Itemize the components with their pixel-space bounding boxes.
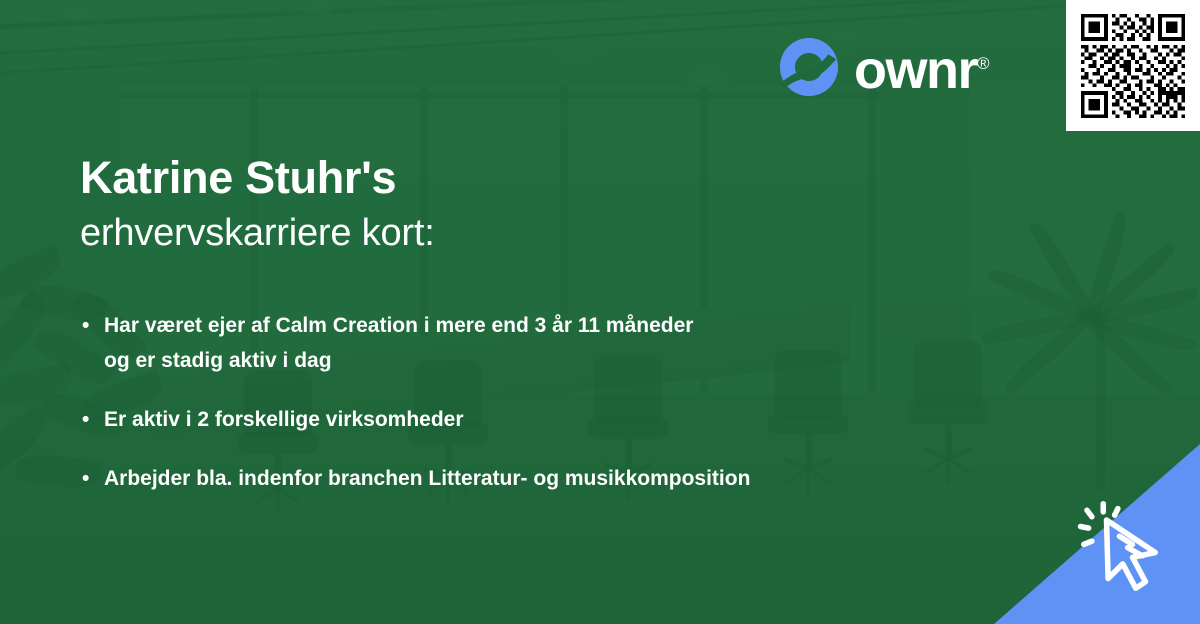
- qr-code: [1077, 10, 1189, 122]
- list-item-text: Er aktiv i 2 forskellige virksomheder: [104, 408, 464, 431]
- brand-name: ownr: [854, 40, 977, 100]
- list-item-text: Har været ejer af Calm Creation i mere e…: [104, 314, 693, 337]
- card-content: ownr®: [0, 0, 1200, 624]
- list-item-text-continuation: og er stadig aktiv i dag: [104, 343, 980, 378]
- qr-code-panel[interactable]: [1066, 0, 1200, 131]
- career-facts-list: Har været ejer af Calm Creation i mere e…: [80, 308, 980, 520]
- business-career-card: ownr®: [0, 0, 1200, 624]
- list-item: Er aktiv i 2 forskellige virksomheder: [80, 402, 980, 437]
- list-item-text: Arbejder bla. indenfor branchen Litterat…: [104, 467, 750, 490]
- title-subtitle: erhvervskarriere kort:: [80, 208, 435, 258]
- registered-trademark-symbol: ®: [977, 54, 990, 73]
- list-item: Har været ejer af Calm Creation i mere e…: [80, 308, 980, 378]
- title-person-name: Katrine Stuhr's: [80, 152, 435, 204]
- ownr-circle-logo-icon: [778, 36, 840, 98]
- page-title: Katrine Stuhr's erhvervskarriere kort:: [80, 152, 435, 258]
- list-item: Arbejder bla. indenfor branchen Litterat…: [80, 461, 980, 496]
- click-cursor-icon: [1074, 494, 1178, 598]
- ownr-wordmark: ownr®: [854, 37, 990, 97]
- ownr-logo[interactable]: ownr®: [778, 36, 990, 98]
